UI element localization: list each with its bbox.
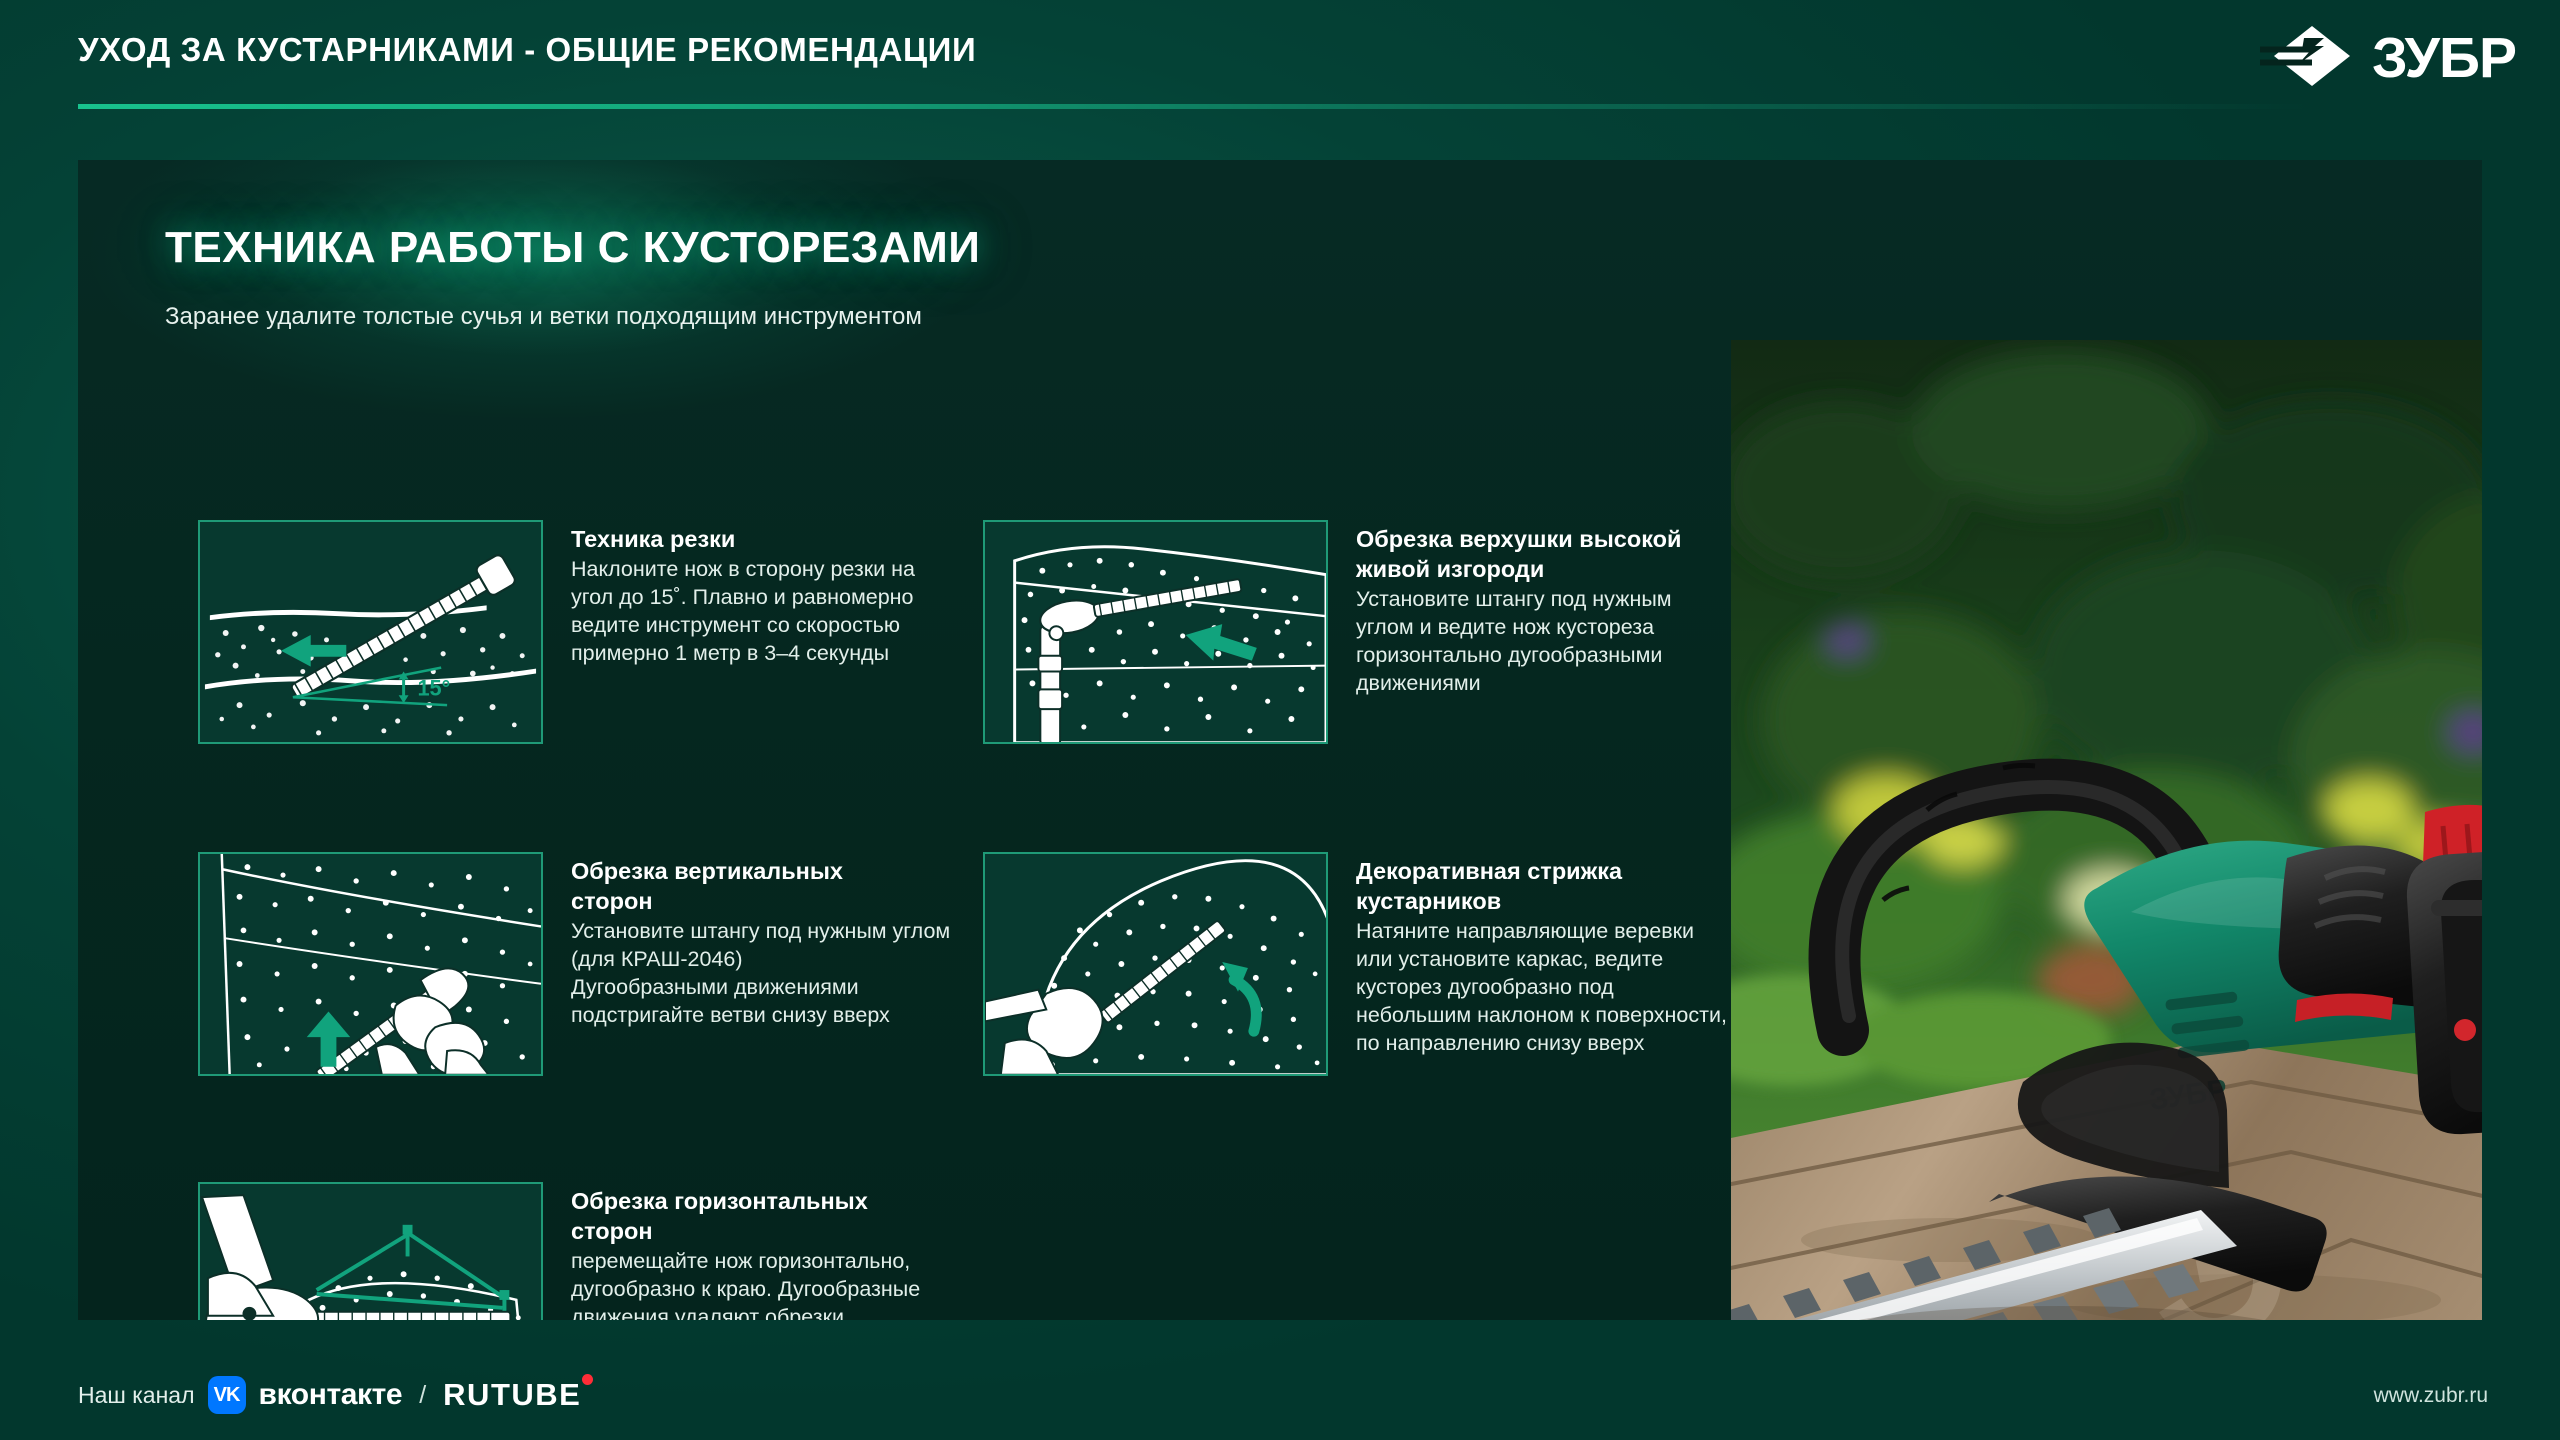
card-body: Установите штангу под нужным углом (для …	[571, 918, 966, 1030]
decorative-shaping-illustration	[983, 852, 1328, 1076]
card-heading: Техника резки	[571, 524, 966, 554]
rutube-dot-icon	[582, 1374, 593, 1385]
slide-root: УХОД ЗА КУСТАРНИКАМИ - ОБЩИЕ РЕКОМЕНДАЦИ…	[0, 0, 2560, 1440]
card-heading: Обрезка горизонтальных сторон	[571, 1186, 966, 1246]
cordless-hedge-trimmer-photo: Э	[1731, 340, 2482, 1320]
technique-card: Обрезка горизонтальных сторон перемещайт…	[198, 1182, 966, 1320]
card-text-block: Обрезка вертикальных сторон Установите ш…	[571, 852, 966, 1030]
vk-link[interactable]: вконтакте	[259, 1378, 403, 1412]
card-text-block: Обрезка горизонтальных сторон перемещайт…	[571, 1182, 966, 1320]
panel-title: ТЕХНИКА РАБОТЫ С КУСТОРЕЗАМИ	[165, 223, 980, 273]
website-url[interactable]: www.zubr.ru	[2374, 1384, 2488, 1408]
brand-name: ЗУБР	[2372, 30, 2516, 87]
card-body: Натяните направляющие веревки или устано…	[1356, 918, 1751, 1058]
tall-hedge-top-illustration	[983, 520, 1328, 744]
rutube-link[interactable]: RUTUBE	[443, 1377, 581, 1413]
slide-footer: Наш канал VK вконтакте / RUTUBE www.zubr…	[0, 1360, 2560, 1440]
card-text-block: Декоративная стрижка кустарников Натянит…	[1356, 852, 1751, 1058]
horizontal-sides-illustration	[198, 1182, 543, 1320]
card-heading: Обрезка вертикальных сторон	[571, 856, 966, 916]
technique-card: 15° Техника резки Наклоните нож в сторон…	[198, 520, 966, 744]
vk-icon[interactable]: VK	[208, 1376, 246, 1414]
slide-header: УХОД ЗА КУСТАРНИКАМИ - ОБЩИЕ РЕКОМЕНДАЦИ…	[0, 0, 2560, 118]
card-body: Наклоните нож в сторону резки на угол до…	[571, 556, 966, 668]
card-heading: Декоративная стрижка кустарников	[1356, 856, 1751, 916]
card-body: Установите штангу под нужным углом и вед…	[1356, 586, 1751, 698]
zubr-diamond-icon	[2260, 24, 2352, 93]
technique-card: Декоративная стрижка кустарников Натянит…	[983, 852, 1751, 1076]
panel-subtitle: Заранее удалите толстые сучья и ветки по…	[165, 303, 922, 331]
card-heading: Обрезка верхушки высокой живой изгороди	[1356, 524, 1751, 584]
vertical-sides-illustration	[198, 852, 543, 1076]
technique-card: Обрезка вертикальных сторон Установите ш…	[198, 852, 966, 1076]
social-links: Наш канал VK вконтакте / RUTUBE	[78, 1376, 581, 1414]
header-title: УХОД ЗА КУСТАРНИКАМИ - ОБЩИЕ РЕКОМЕНДАЦИ…	[78, 31, 976, 69]
card-body: перемещайте нож горизонтально, дугообраз…	[571, 1248, 966, 1320]
content-panel: ТЕХНИКА РАБОТЫ С КУСТОРЕЗАМИ Заранее уда…	[78, 160, 2482, 1320]
footer-lead-label: Наш канал	[78, 1382, 195, 1409]
rutube-label: RUTUBE	[443, 1377, 581, 1412]
vk-glyph-label: VK	[214, 1385, 240, 1405]
card-text-block: Техника резки Наклоните нож в сторону ре…	[571, 520, 966, 668]
cutting-angle-illustration: 15°	[198, 520, 543, 744]
angle-label: 15°	[417, 675, 450, 700]
header-divider	[78, 104, 2308, 109]
card-text-block: Обрезка верхушки высокой живой изгороди …	[1356, 520, 1751, 698]
brand-logo: ЗУБР	[2260, 26, 2516, 90]
footer-separator: /	[419, 1381, 426, 1410]
technique-card: Обрезка верхушки высокой живой изгороди …	[983, 520, 1751, 744]
